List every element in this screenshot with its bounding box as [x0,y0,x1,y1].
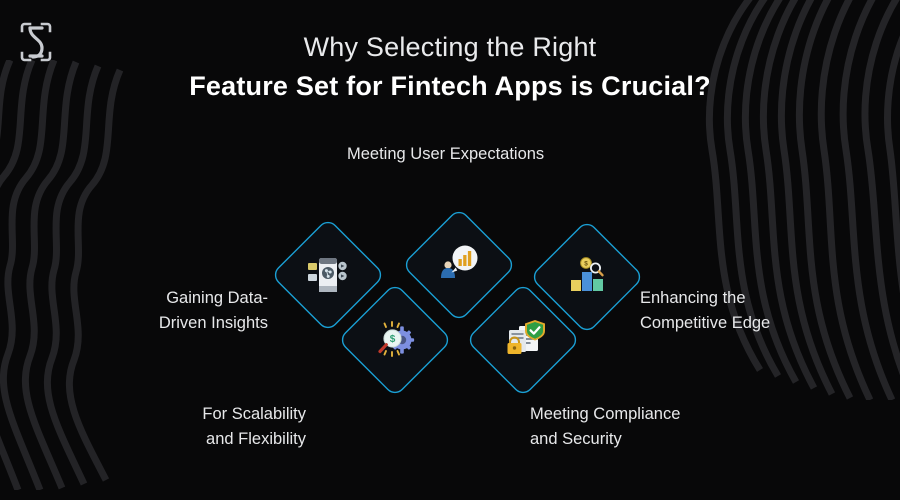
label-for-scalability-and-flexibility: For Scalability and Flexibility [66,402,306,452]
label-meeting-user-expectations: Meeting User Expectations [347,142,647,167]
infographic-canvas: Why Selecting the Right Feature Set for … [0,0,900,500]
label-gaining-data-driven-insights: Gaining Data- Driven Insights [48,286,268,336]
svg-text:$: $ [584,260,588,267]
node-meeting-user-expectations[interactable] [402,208,515,321]
label-meeting-compliance-and-security: Meeting Compliance and Security [530,402,780,452]
label-enhancing-competitive-edge: Enhancing the Competitive Edge [640,286,870,336]
svg-text:$: $ [390,334,396,345]
